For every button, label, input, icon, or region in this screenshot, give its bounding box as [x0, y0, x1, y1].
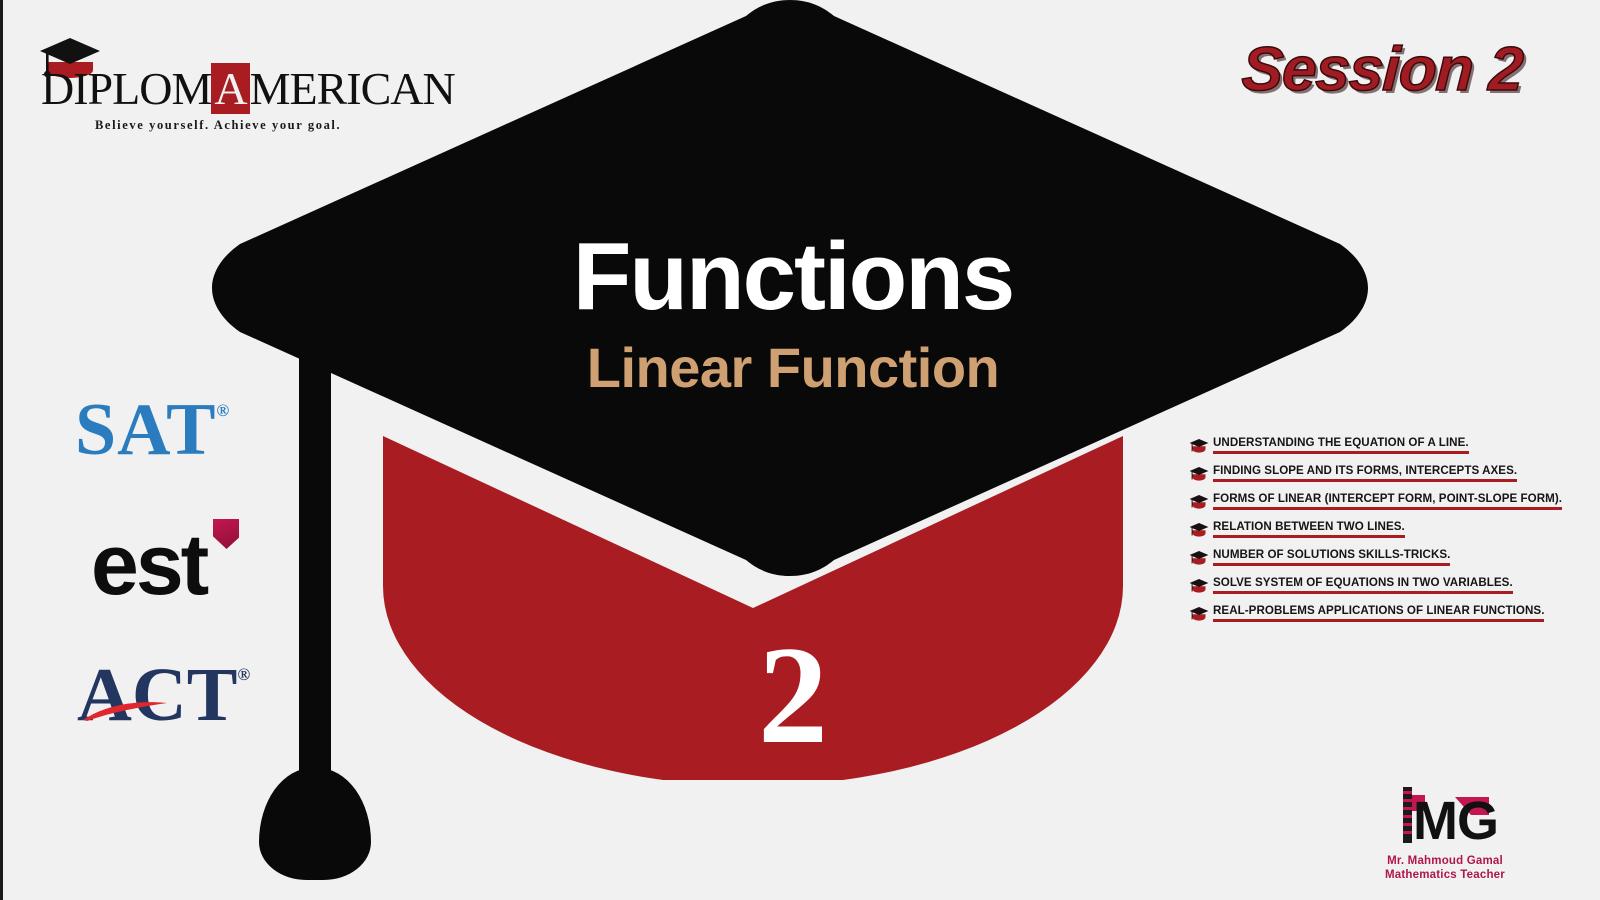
teacher-logo: M G Mr. Mahmoud Gamal Mathematics Teache…: [1360, 785, 1530, 882]
topic-label: NUMBER OF SOLUTIONS SKILLS-TRICKS.: [1213, 548, 1450, 561]
title-block: Functions Linear Function: [433, 228, 1153, 396]
logo-sat-text: SAT: [75, 389, 216, 471]
graduation-cap-icon: [1189, 606, 1209, 622]
topic-underline: [1213, 591, 1513, 594]
brand-wordmark-part1: DIPLOM: [41, 63, 211, 114]
act-swoosh-icon: [81, 700, 169, 722]
slide-canvas: Functions Linear Function 2 DIPLOMAMERIC…: [0, 0, 1600, 900]
page-title: Functions: [433, 228, 1153, 326]
graduation-cap-icon: [1189, 578, 1209, 594]
list-item: FORMS OF LINEAR (INTERCEPT FORM, POINT-S…: [1189, 492, 1589, 520]
topic-underline: [1213, 563, 1450, 566]
page-subtitle: Linear Function: [433, 340, 1153, 396]
logo-est: est: [91, 516, 206, 615]
teacher-name: Mr. Mahmoud Gamal: [1360, 854, 1530, 868]
svg-text:M: M: [1413, 791, 1458, 847]
list-item: RELATION BETWEEN TWO LINES.: [1189, 520, 1589, 548]
topic-text-wrap: SOLVE SYSTEM OF EQUATIONS IN TWO VARIABL…: [1213, 576, 1513, 594]
topic-text-wrap: RELATION BETWEEN TWO LINES.: [1213, 520, 1405, 538]
topic-text-wrap: REAL-PROBLEMS APPLICATIONS OF LINEAR FUN…: [1213, 604, 1544, 622]
session-number: 2: [433, 626, 1153, 766]
brand-tagline: Believe yourself. Achieve your goal.: [95, 118, 341, 133]
brand-wordmark-accent: A: [211, 63, 249, 114]
list-item: SOLVE SYSTEM OF EQUATIONS IN TWO VARIABL…: [1189, 576, 1589, 604]
topic-label: RELATION BETWEEN TWO LINES.: [1213, 520, 1405, 533]
topic-underline: [1213, 535, 1405, 538]
logo-sat-registered: ®: [216, 401, 230, 420]
logo-act-registered: ®: [237, 665, 250, 684]
topic-text-wrap: NUMBER OF SOLUTIONS SKILLS-TRICKS.: [1213, 548, 1450, 566]
topic-underline: [1213, 507, 1562, 510]
logo-est-text: est: [91, 517, 206, 613]
topic-text-wrap: FORMS OF LINEAR (INTERCEPT FORM, POINT-S…: [1213, 492, 1562, 510]
topic-label: REAL-PROBLEMS APPLICATIONS OF LINEAR FUN…: [1213, 604, 1544, 617]
topic-text-wrap: FINDING SLOPE AND ITS FORMS, INTERCEPTS …: [1213, 464, 1517, 482]
list-item: NUMBER OF SOLUTIONS SKILLS-TRICKS.: [1189, 548, 1589, 576]
list-item: REAL-PROBLEMS APPLICATIONS OF LINEAR FUN…: [1189, 604, 1589, 632]
topic-list: UNDERSTANDING THE EQUATION OF A LINE. FI…: [1189, 436, 1589, 632]
cap-tassel-knob: [259, 768, 371, 880]
graduation-cap-icon: [1189, 466, 1209, 482]
graduation-cap-icon: [1189, 438, 1209, 454]
session-badge: Session 2: [1240, 34, 1524, 105]
graduation-cap-icon: [1189, 522, 1209, 538]
brand-logo: DIPLOMAMERICAN Believe yourself. Achieve…: [33, 36, 403, 136]
logo-act-text: ACT: [77, 653, 237, 737]
graduation-cap-icon: [1189, 550, 1209, 566]
topic-underline: [1213, 619, 1544, 622]
svg-text:G: G: [1457, 791, 1499, 847]
graduation-cap-icon: [1189, 494, 1209, 510]
topic-text-wrap: UNDERSTANDING THE EQUATION OF A LINE.: [1213, 436, 1469, 454]
topic-label: SOLVE SYSTEM OF EQUATIONS IN TWO VARIABL…: [1213, 576, 1513, 589]
brand-wordmark-part2: MERICAN: [250, 63, 455, 114]
list-item: FINDING SLOPE AND ITS FORMS, INTERCEPTS …: [1189, 464, 1589, 492]
list-item: UNDERSTANDING THE EQUATION OF A LINE.: [1189, 436, 1589, 464]
topic-label: UNDERSTANDING THE EQUATION OF A LINE.: [1213, 436, 1469, 449]
teacher-role: Mathematics Teacher: [1360, 868, 1530, 882]
brand-wordmark: DIPLOMAMERICAN: [41, 66, 455, 112]
logo-sat: SAT®: [75, 388, 230, 473]
topic-underline: [1213, 479, 1517, 482]
topic-label: FINDING SLOPE AND ITS FORMS, INTERCEPTS …: [1213, 464, 1517, 477]
teacher-monogram-icon: M G: [1385, 785, 1505, 847]
topic-underline: [1213, 451, 1469, 454]
logo-act: ACT®: [77, 652, 250, 739]
topic-label: FORMS OF LINEAR (INTERCEPT FORM, POINT-S…: [1213, 492, 1562, 505]
